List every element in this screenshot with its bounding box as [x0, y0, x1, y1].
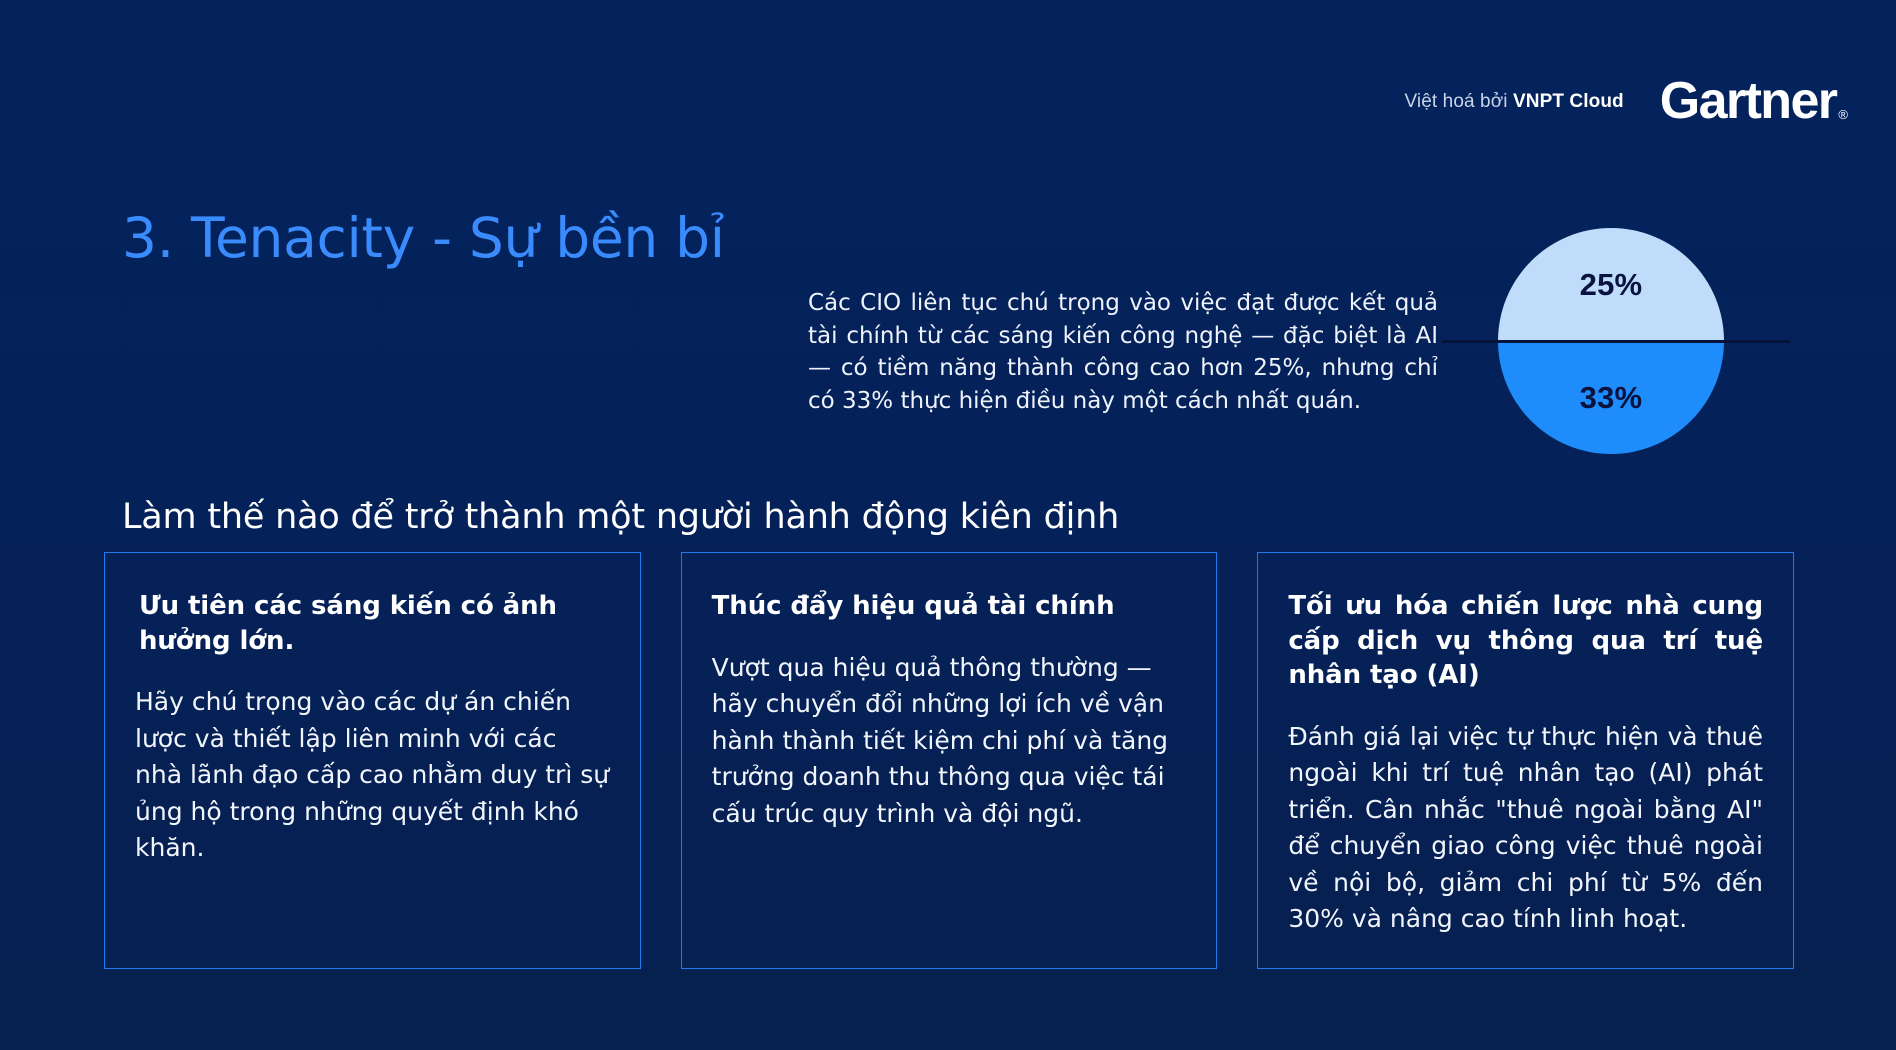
localization-credit-brand: VNPT Cloud — [1513, 91, 1624, 112]
presentation-slide: Việt hoá bởi VNPT Cloud Gartner ® 3. Ten… — [0, 0, 1896, 1050]
card-body: Đánh giá lại việc tự thực hiện và thuê n… — [1288, 719, 1763, 938]
split-circle-stat-chart: 25% 33% — [1498, 228, 1724, 454]
localization-credit: Việt hoá bởi VNPT Cloud — [1405, 92, 1624, 111]
stat-divider-line — [1442, 340, 1790, 343]
card-title: Tối ưu hóa chiến lược nhà cung cấp dịch … — [1288, 589, 1763, 693]
gartner-logo: Gartner ® — [1660, 78, 1848, 125]
card-title: Thúc đẩy hiệu quả tài chính — [712, 589, 1187, 624]
intro-paragraph: Các CIO liên tục chú trọng vào việc đạt … — [808, 287, 1438, 418]
localization-credit-prefix: Việt hoá bởi — [1405, 91, 1513, 112]
card-item[interactable]: Ưu tiên các sáng kiến có ảnh hưởng lớn. … — [104, 552, 641, 969]
card-title: Ưu tiên các sáng kiến có ảnh hưởng lớn. — [135, 589, 610, 658]
stat-value-lower: 33% — [1580, 380, 1643, 416]
card-item[interactable]: Thúc đẩy hiệu quả tài chính Vượt qua hiệ… — [681, 552, 1218, 969]
page-title: 3. Tenacity - Sự bền bỉ — [122, 210, 725, 268]
stat-segment-lower: 33% — [1498, 341, 1724, 454]
gartner-wordmark: Gartner — [1660, 78, 1837, 125]
card-list: Ưu tiên các sáng kiến có ảnh hưởng lớn. … — [104, 552, 1794, 969]
card-body: Hãy chú trọng vào các dự án chiến lược v… — [135, 684, 610, 867]
stat-value-upper: 25% — [1580, 267, 1643, 303]
branding-row: Việt hoá bởi VNPT Cloud Gartner ® — [1405, 78, 1849, 125]
registered-trademark-icon: ® — [1838, 108, 1848, 121]
section-heading: Làm thế nào để trở thành một người hành … — [122, 497, 1119, 537]
card-item[interactable]: Tối ưu hóa chiến lược nhà cung cấp dịch … — [1257, 552, 1794, 969]
stat-segment-upper: 25% — [1498, 228, 1724, 341]
card-body: Vượt qua hiệu quả thông thường — hãy chu… — [712, 650, 1187, 833]
